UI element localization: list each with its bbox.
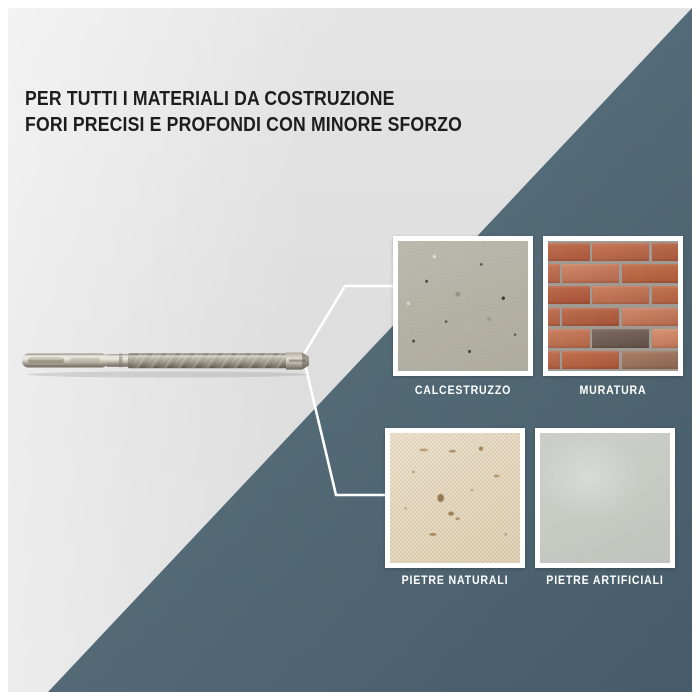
headline-line-2: FORI PRECISI E PROFONDI CON MINORE SFORZ… (25, 112, 403, 138)
material-label-masonry: MURATURA (549, 385, 678, 397)
artificial-stone-texture (540, 433, 670, 563)
material-swatch-natural-stone[interactable] (385, 428, 525, 568)
brick-texture (548, 241, 678, 371)
drill-bit-highlight (24, 355, 304, 357)
natural-stone-texture (390, 433, 520, 563)
brick-course (548, 241, 678, 263)
material-swatch-artificial-stone[interactable] (535, 428, 675, 568)
drill-bit-shank-groove-highlight (29, 358, 63, 360)
material-swatch-concrete[interactable] (393, 236, 533, 376)
brick-course (548, 263, 678, 285)
drill-bit-shank-rib (70, 358, 100, 363)
brick-course (548, 306, 678, 328)
material-label-artificial-stone: PIETRE ARTIFICIALI (541, 575, 670, 587)
brick-course (548, 328, 678, 350)
concrete-texture (398, 241, 528, 371)
headline: PER TUTTI I MATERIALI DA COSTRUZIONE FOR… (25, 86, 403, 138)
brick-course (548, 284, 678, 306)
drill-bit-tip-cross-slot (289, 359, 306, 361)
drill-bit (18, 341, 313, 383)
brick-course (548, 349, 678, 371)
poster-root: PER TUTTI I MATERIALI DA COSTRUZIONE FOR… (0, 0, 700, 700)
material-swatch-masonry[interactable] (543, 236, 683, 376)
drill-bit-shadow (28, 371, 308, 377)
material-label-natural-stone: PIETRE NATURALI (391, 575, 520, 587)
headline-line-1: PER TUTTI I MATERIALI DA COSTRUZIONE (25, 86, 403, 112)
poster-canvas: PER TUTTI I MATERIALI DA COSTRUZIONE FOR… (8, 8, 692, 692)
material-label-concrete: CALCESTRUZZO (399, 385, 528, 397)
brick-wall (548, 241, 678, 371)
